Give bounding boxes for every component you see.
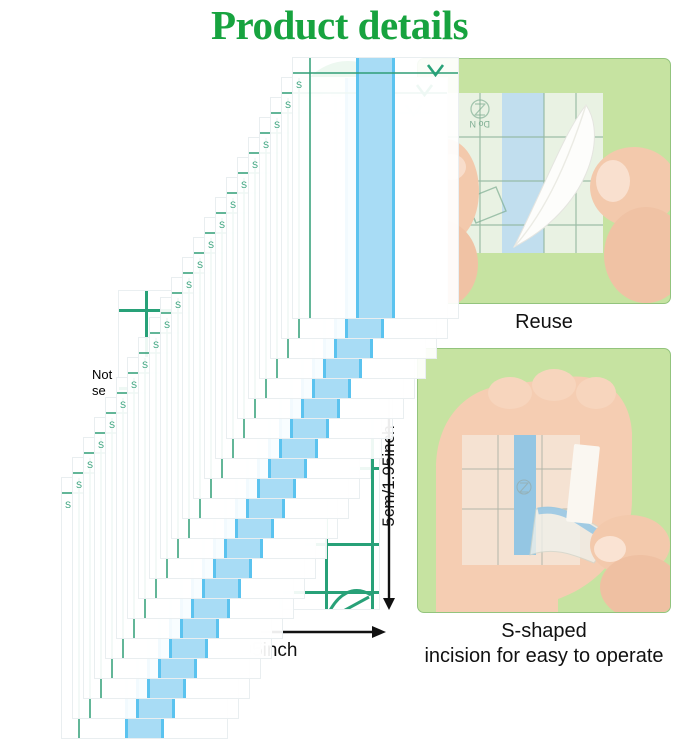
sheet-letter: S (186, 280, 192, 290)
panel-incision-caption-line2: incision for easy to operate (417, 644, 671, 669)
sheet-letter: S (296, 80, 302, 90)
stack-sheet: S (292, 57, 459, 319)
sheet-letter: S (153, 340, 159, 350)
sheet-letter: S (252, 160, 258, 170)
sheet-letter: S (263, 140, 269, 150)
sheet-blue-stripe (356, 58, 392, 318)
s-incision-mark-bottom (315, 579, 380, 610)
sheet-letter: S (285, 100, 291, 110)
sheet-letter: S (274, 120, 280, 130)
sheet-letter: S (219, 220, 225, 230)
sheet-letter: S (164, 320, 170, 330)
panel-incision-caption: S-shaped incision for easy to operate (417, 619, 671, 669)
chevron-mark-icon (427, 64, 444, 77)
panel-incision-wrapper: S-shaped incision for easy to operate (417, 348, 671, 669)
stack-partial-text-2: se (92, 383, 106, 398)
sheet-letter: S (230, 200, 236, 210)
sheet-letter: S (175, 300, 181, 310)
sheet-letter: S (65, 500, 71, 510)
svg-text:Do N: Do N (469, 119, 490, 129)
sheet-letter: S (109, 420, 115, 430)
sheet-letter: S (120, 400, 126, 410)
sheet-letter: S (241, 180, 247, 190)
sheet-letter: S (208, 240, 214, 250)
sheet-letter: S (76, 480, 82, 490)
sheet-blue-edge-left (356, 58, 359, 318)
pulling-fingers (590, 515, 671, 613)
panel-incision-caption-line1: S-shaped (417, 619, 671, 644)
sheet-letter: S (131, 380, 137, 390)
stack-partial-text-1: Not (92, 367, 112, 382)
sheet-letter: S (98, 440, 104, 450)
sheet-letter: S (197, 260, 203, 270)
sheet-letter: S (142, 360, 148, 370)
sheet-grid-line (309, 58, 311, 318)
panel-incision-image (417, 348, 671, 613)
sheet-letter: S (87, 460, 93, 470)
sheet-blue-edge-right (392, 58, 395, 318)
dimension-height-label: 5cm/1.95inch (379, 425, 399, 526)
page-title: Product details (0, 2, 679, 48)
incision-illustration (418, 349, 671, 613)
